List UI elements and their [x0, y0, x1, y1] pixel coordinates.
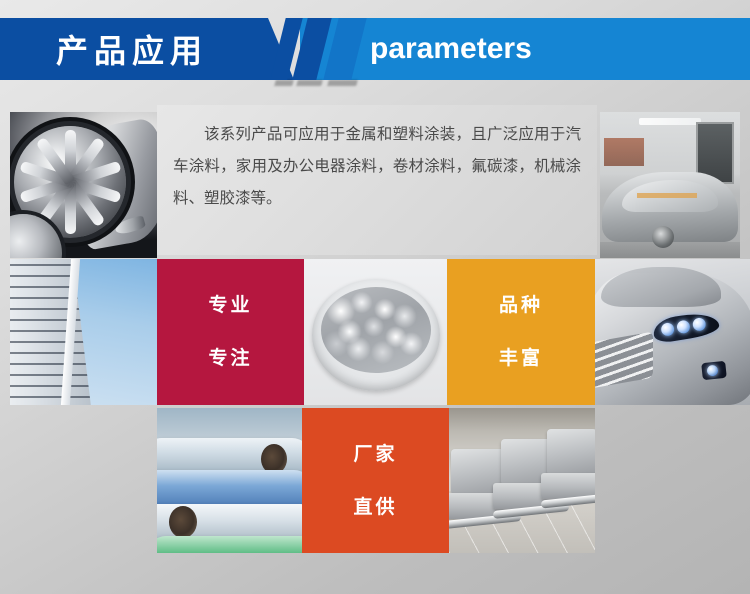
alloy-wheel-car-photo	[10, 112, 157, 258]
panel-factory-direct-line1: 厂家	[353, 445, 397, 464]
header-slab-shadow-1	[274, 80, 293, 86]
steel-bench-chairs-photo	[449, 408, 595, 553]
intro-text-block: 该系列产品可应用于金属和塑料涂装，且广泛应用于汽车涂料，家用及办公电器涂料，卷材…	[157, 105, 597, 255]
header-slab-shadow-2	[296, 80, 322, 86]
bench-backrest-3	[547, 429, 595, 475]
panel-professional: 专业 专注	[157, 259, 304, 405]
header-slab-shadow-3	[327, 80, 357, 86]
header-title-en: parameters	[370, 32, 532, 66]
concept-car-front-photo	[595, 259, 750, 405]
panel-variety-line1: 品种	[499, 296, 543, 315]
concept-car-fog-lamp	[701, 361, 727, 380]
glass-skyscraper-photo	[10, 259, 157, 405]
panel-factory-direct: 厂家 直供	[302, 408, 449, 553]
aluminium-flake-pile	[321, 287, 431, 373]
paint-booth-ceiling-light	[639, 118, 701, 125]
content-grid: 该系列产品可应用于金属和塑料涂装，且广泛应用于汽车涂料，家用及办公电器涂料，卷材…	[0, 95, 750, 565]
aluminium-paste-dish-photo	[304, 259, 447, 405]
headlamp-led-2	[676, 319, 691, 334]
section-header-banner: 产品应用 parameters	[0, 18, 750, 80]
panel-variety: 品种 丰富	[447, 259, 595, 405]
headlamp-led-1	[660, 322, 675, 337]
skyscraper-facade-right	[66, 259, 157, 405]
color-coated-steel-coil-photo	[157, 408, 302, 553]
headlamp-led-3	[692, 317, 707, 332]
panel-professional-line1: 专业	[208, 296, 252, 315]
steel-coil-green	[157, 536, 302, 553]
panel-professional-line2: 专注	[208, 349, 252, 368]
steel-coil-core-hole-2	[169, 506, 197, 538]
header-title-cn: 产品应用	[56, 26, 208, 72]
product-application-banner-page: 产品应用 parameters 该系列产品可应用于金	[0, 0, 750, 594]
paint-booth-rack	[604, 138, 644, 166]
paint-booth-car-photo	[600, 112, 740, 258]
panel-variety-line2: 丰富	[499, 349, 543, 368]
booth-car-wheel	[652, 226, 674, 248]
panel-factory-direct-line2: 直供	[353, 498, 397, 517]
intro-paragraph: 该系列产品可应用于金属和塑料涂装，且广泛应用于汽车涂料，家用及办公电器涂料，卷材…	[157, 105, 597, 214]
steel-coil-blue	[157, 470, 302, 508]
